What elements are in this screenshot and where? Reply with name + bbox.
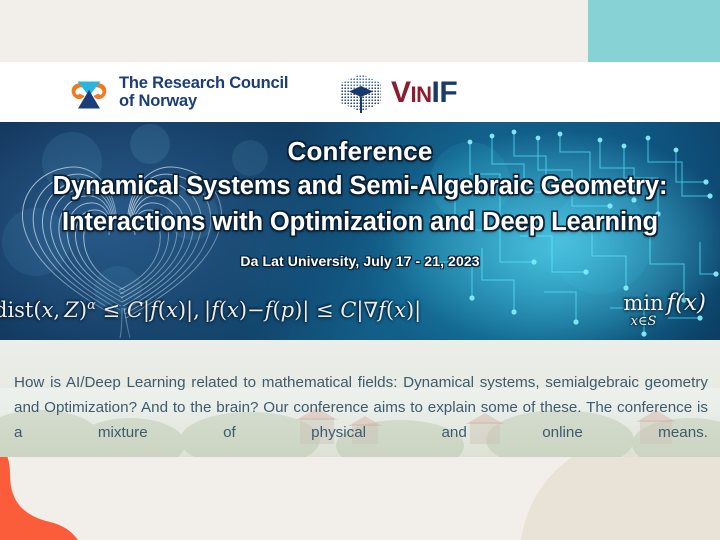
banner-venue-date: Da Lat University, July 17 - 21, 2023 [0, 253, 720, 269]
conference-description-paragraph: How is AI/Deep Learning related to mathe… [14, 370, 708, 457]
vinif-wordmark: VINIF [391, 76, 457, 110]
research-council-mark-icon [68, 70, 110, 114]
vinif-cube-icon [338, 72, 384, 114]
logo-vinif: VINIF [338, 72, 457, 114]
slide-canvas: The Research Councilof Norway [0, 0, 720, 540]
banner-heading: Conference [0, 136, 720, 167]
description-area: How is AI/Deep Learning related to mathe… [0, 340, 720, 457]
sponsor-logo-strip: The Research Councilof Norway [0, 62, 720, 122]
formula-minimization: min x∈S f(x) [623, 290, 706, 328]
logo-research-council-of-norway: The Research Councilof Norway [68, 70, 288, 114]
formula-min-operator: min [623, 293, 663, 314]
formula-objective: f(x) [667, 290, 706, 316]
banner-title-line-1: Dynamical Systems and Semi-Algebraic Geo… [0, 172, 720, 201]
formula-min-subscript: x∈S [623, 315, 663, 328]
banner-title-line-2: Interactions with Optimization and Deep … [0, 208, 720, 237]
conference-banner: Conference Dynamical Systems and Semi-Al… [0, 122, 720, 340]
formula-lojasiewicz-inequality: dist(x, Z)α ≤ C|f(x)|, |f(x)−f(p)| ≤ C|∇… [0, 298, 421, 322]
research-council-wordmark: The Research Councilof Norway [119, 74, 288, 111]
teal-corner-block [588, 0, 720, 62]
